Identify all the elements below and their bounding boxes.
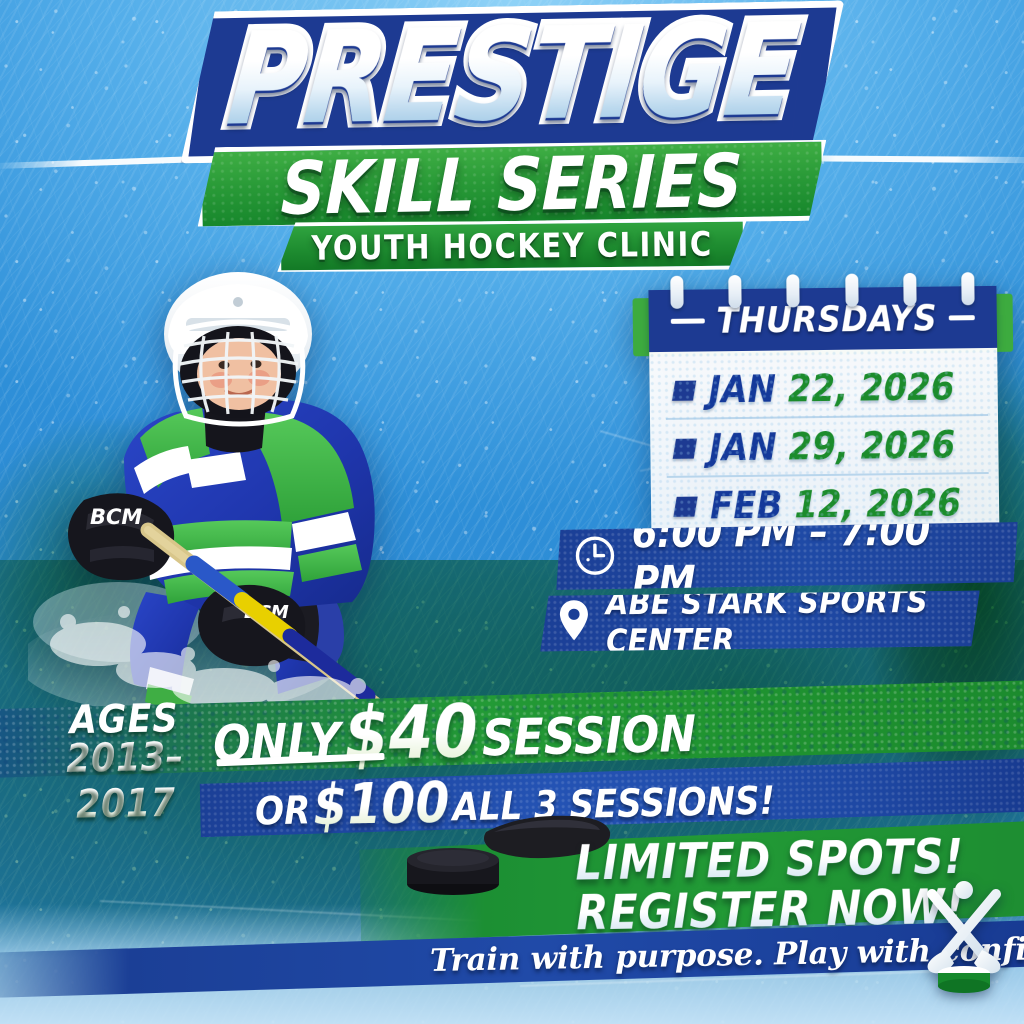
- date-day-year: 12, 2026: [794, 481, 961, 527]
- location-bar: ABE STARK SPORTS CENTER: [540, 590, 980, 651]
- calendar-ring: [903, 273, 916, 306]
- skill-series-title: SKILL SERIES: [280, 137, 743, 231]
- calendar-rings: [670, 272, 974, 310]
- date-day-year: 29, 2026: [788, 423, 955, 469]
- session-price-suffix: SESSION: [481, 705, 696, 768]
- time-bar: 6:00 PM – 7:00 PM: [556, 522, 1019, 590]
- calendar-ring: [728, 275, 741, 308]
- skill-series-plate: SKILL SERIES: [196, 137, 827, 232]
- calendar-dash-left: [670, 318, 704, 323]
- map-pin-icon: [558, 598, 590, 647]
- date-bullet-icon: [672, 381, 696, 401]
- date-day-year: 22, 2026: [788, 365, 955, 411]
- date-bullet-icon: [673, 497, 697, 517]
- date-month: JAN: [708, 368, 776, 413]
- calendar-ring: [845, 274, 858, 307]
- session-price-amount: $40: [343, 690, 478, 777]
- date-text: JAN 22, 2026: [708, 365, 954, 412]
- session-price-line: ONLY$40SESSION: [212, 691, 683, 775]
- date-row: JAN 29, 2026: [666, 414, 989, 476]
- calendar-dates-list: JAN 22, 2026 JAN 29, 2026 FEB 12, 2026: [649, 348, 999, 550]
- ages-range: 2013–2017: [30, 735, 222, 831]
- date-bullet-icon: [673, 439, 697, 459]
- date-month: JAN: [709, 426, 777, 471]
- prestige-title-wrap: PRESTIGE PRESTIGE: [0, 6, 1024, 158]
- title-lockup: PRESTIGE PRESTIGE SKILL SERIES YOUTH HOC…: [0, 6, 1024, 276]
- prestige-title: PRESTIGE: [219, 5, 805, 153]
- bundle-price-amount: $100: [312, 770, 450, 838]
- youth-clinic-plate: YOUTH HOCKEY CLINIC: [277, 218, 748, 275]
- calendar-dash-right: [949, 315, 975, 320]
- ages-block: AGES 2013–2017: [29, 698, 221, 826]
- hockey-player-photo: BCM BCM: [28, 262, 458, 714]
- date-text: JAN 29, 2026: [709, 423, 955, 470]
- calendar-ring: [961, 272, 974, 305]
- clock-icon: [574, 534, 616, 581]
- schedule-calendar-card: THURSDAYS JAN 22, 2026 JAN 29, 2026: [648, 286, 999, 550]
- poster-root: BCM BCM: [0, 0, 1024, 1024]
- prestige-plate: PRESTIGE PRESTIGE: [180, 0, 844, 163]
- date-row: JAN 22, 2026: [665, 362, 988, 418]
- youth-clinic-subtitle: YOUTH HOCKEY CLINIC: [311, 224, 713, 268]
- crossed-hockey-sticks-icon: [908, 872, 1020, 994]
- calendar-ring: [787, 274, 800, 307]
- date-text: FEB 12, 2026: [710, 481, 961, 528]
- bundle-price-prefix: OR: [255, 788, 311, 835]
- date-month: FEB: [710, 484, 783, 529]
- calendar-ring: [670, 276, 683, 309]
- hockey-puck: [398, 840, 508, 896]
- svg-text:BCM: BCM: [90, 505, 142, 529]
